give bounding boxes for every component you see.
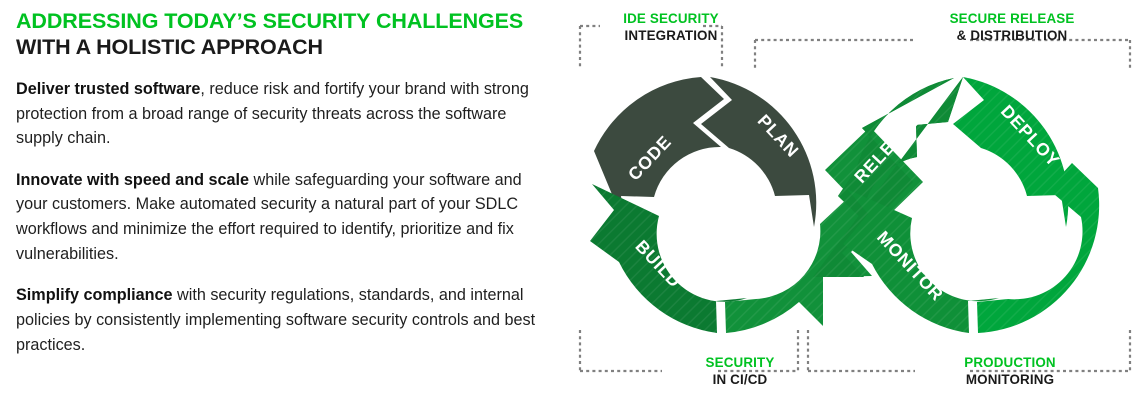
devsecops-infinity-diagram: CODE PLAN BUILD TEST [570, 0, 1140, 401]
bracket-label-release-line-1: SECURE RELEASE [922, 10, 1102, 27]
body-paragraph-3: Simplify compliance with security regula… [16, 283, 556, 357]
paragraph-1-lead: Deliver trusted software [16, 80, 200, 98]
bracket-label-production-line-1: PRODUCTION [920, 354, 1100, 371]
segment-build: BUILD [590, 184, 747, 333]
infinity-loop-svg: CODE PLAN BUILD TEST [570, 0, 1140, 401]
bracket-label-production-monitoring: PRODUCTION MONITORING [920, 354, 1100, 388]
bracket-label-ide-line-2: INTEGRATION [606, 27, 736, 44]
paragraph-3-lead: Simplify compliance [16, 286, 173, 304]
bracket-label-secure-release-distribution: SECURE RELEASE & DISTRIBUTION [922, 10, 1102, 44]
paragraph-2-lead: Innovate with speed and scale [16, 171, 249, 189]
bracket-label-ide-line-1: IDE SECURITY [606, 10, 736, 27]
segment-deploy: DEPLOY [953, 77, 1068, 227]
page-title-line-2: WITH A HOLISTIC APPROACH [16, 34, 556, 60]
page-title-line-1: ADDRESSING TODAY’S SECURITY CHALLENGES [16, 8, 556, 34]
bracket-label-security-in-cicd: SECURITY IN CI/CD [665, 354, 815, 388]
page-root: ADDRESSING TODAY’S SECURITY CHALLENGES W… [0, 0, 1140, 401]
body-paragraph-1: Deliver trusted software, reduce risk an… [16, 77, 556, 151]
bracket-label-security-line-2: IN CI/CD [665, 371, 815, 388]
content-column: ADDRESSING TODAY’S SECURITY CHALLENGES W… [16, 8, 556, 357]
bracket-label-security-line-1: SECURITY [665, 354, 815, 371]
segment-label-test: TEST [769, 225, 817, 273]
bracket-label-production-line-2: MONITORING [920, 371, 1100, 388]
bracket-label-release-line-2: & DISTRIBUTION [922, 27, 1102, 44]
body-paragraph-2: Innovate with speed and scale while safe… [16, 168, 556, 267]
segment-monitor: MONITOR [843, 189, 999, 333]
bracket-label-ide-security-integration: IDE SECURITY INTEGRATION [606, 10, 736, 44]
page-title: ADDRESSING TODAY’S SECURITY CHALLENGES W… [16, 8, 556, 61]
